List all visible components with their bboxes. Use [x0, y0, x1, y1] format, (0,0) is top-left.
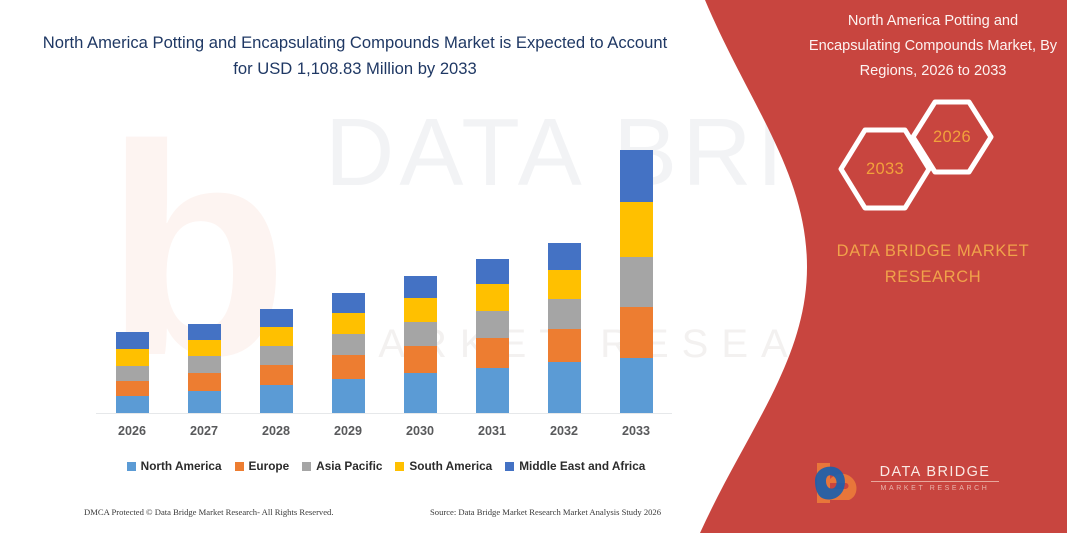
legend-item-north-america[interactable]: North America — [127, 459, 222, 473]
bar-segment[interactable] — [404, 276, 437, 298]
legend-swatch — [505, 462, 514, 471]
bar-slot — [312, 140, 384, 413]
bar-segment[interactable] — [188, 324, 221, 340]
bar-segment[interactable] — [476, 311, 509, 338]
x-axis-label-2029: 2029 — [312, 424, 384, 438]
stacked-bar[interactable] — [548, 243, 581, 413]
logo-divider — [871, 481, 999, 482]
stacked-bar-chart — [96, 140, 672, 414]
bar-segment[interactable] — [260, 327, 293, 346]
company-logo: DATA BRIDGE MARKET RESEARCH — [813, 459, 1013, 511]
legend-item-asia-pacific[interactable]: Asia Pacific — [302, 459, 382, 473]
bar-segment[interactable] — [620, 257, 653, 307]
bar-segment[interactable] — [548, 270, 581, 299]
x-axis-label-2027: 2027 — [168, 424, 240, 438]
hexagon-2026: 2026 — [909, 98, 995, 176]
stacked-bar[interactable] — [332, 293, 365, 413]
bar-segment[interactable] — [620, 202, 653, 257]
legend-swatch — [235, 462, 244, 471]
hexagon-group: 2033 2026 — [799, 98, 1067, 208]
x-axis-line — [96, 413, 672, 414]
bar-segment[interactable] — [116, 332, 149, 349]
bar-segment[interactable] — [116, 349, 149, 366]
logo-bridge-icon — [813, 459, 869, 509]
legend-item-middle-east-and-africa[interactable]: Middle East and Africa — [505, 459, 645, 473]
stacked-bar[interactable] — [404, 276, 437, 413]
bar-segment[interactable] — [548, 329, 581, 362]
legend-label: Europe — [249, 459, 290, 473]
bar-segment[interactable] — [404, 322, 437, 346]
bar-slot — [240, 140, 312, 413]
x-axis-label-2030: 2030 — [384, 424, 456, 438]
footer-copyright: DMCA Protected © Data Bridge Market Rese… — [84, 507, 334, 517]
stacked-bar[interactable] — [620, 150, 653, 413]
bar-segment[interactable] — [548, 243, 581, 270]
bar-segment[interactable] — [332, 379, 365, 413]
bar-segment[interactable] — [188, 373, 221, 391]
bar-segment[interactable] — [476, 284, 509, 311]
x-axis-label-2031: 2031 — [456, 424, 528, 438]
bar-segment[interactable] — [620, 307, 653, 358]
bar-segment[interactable] — [116, 366, 149, 381]
legend-swatch — [302, 462, 311, 471]
panel-title: North America Potting and Encapsulating … — [799, 9, 1067, 84]
x-axis-label-2028: 2028 — [240, 424, 312, 438]
logo-text: DATA BRIDGE MARKET RESEARCH — [871, 464, 999, 492]
bar-segment[interactable] — [260, 385, 293, 413]
bar-segment[interactable] — [332, 334, 365, 355]
bar-segment[interactable] — [404, 373, 437, 413]
bar-segment[interactable] — [332, 355, 365, 379]
bar-segment[interactable] — [332, 313, 365, 334]
legend-label: Middle East and Africa — [519, 459, 645, 473]
legend-swatch — [395, 462, 404, 471]
legend-label: South America — [409, 459, 492, 473]
brand-name: DATA BRIDGE MARKET RESEARCH — [799, 238, 1067, 290]
legend-item-south-america[interactable]: South America — [395, 459, 492, 473]
bar-segment[interactable] — [620, 358, 653, 413]
footer-source: Source: Data Bridge Market Research Mark… — [430, 507, 661, 517]
stacked-bar[interactable] — [476, 259, 509, 413]
bar-segment[interactable] — [548, 362, 581, 413]
stacked-bar[interactable] — [260, 309, 293, 413]
stacked-bar[interactable] — [116, 332, 149, 413]
bars-container — [96, 140, 672, 413]
bar-slot — [600, 140, 672, 413]
bar-segment[interactable] — [476, 259, 509, 284]
chart-legend: North AmericaEuropeAsia PacificSouth Ame… — [96, 459, 676, 473]
brand-name-line2: RESEARCH — [799, 264, 1067, 290]
legend-label: Asia Pacific — [316, 459, 382, 473]
brand-panel: North America Potting and Encapsulating … — [687, 0, 1067, 533]
bar-segment[interactable] — [476, 338, 509, 368]
bar-slot — [456, 140, 528, 413]
bar-segment[interactable] — [260, 346, 293, 365]
bar-segment[interactable] — [116, 396, 149, 413]
bar-segment[interactable] — [260, 309, 293, 327]
bar-segment[interactable] — [476, 368, 509, 413]
bar-slot — [96, 140, 168, 413]
legend-label: North America — [141, 459, 222, 473]
bar-slot — [528, 140, 600, 413]
stacked-bar[interactable] — [188, 324, 221, 413]
x-axis-labels: 20262027202820292030203120322033 — [96, 424, 672, 438]
chart-panel: North America Potting and Encapsulating … — [0, 0, 712, 533]
hexagon-2026-label: 2026 — [909, 98, 995, 176]
legend-item-europe[interactable]: Europe — [235, 459, 290, 473]
legend-swatch — [127, 462, 136, 471]
bar-segment[interactable] — [332, 293, 365, 313]
x-axis-label-2033: 2033 — [600, 424, 672, 438]
bar-segment[interactable] — [188, 340, 221, 356]
bar-segment[interactable] — [116, 381, 149, 396]
bar-segment[interactable] — [188, 391, 221, 413]
x-axis-label-2026: 2026 — [96, 424, 168, 438]
logo-main-text: DATA BRIDGE — [871, 464, 999, 480]
bar-segment[interactable] — [404, 346, 437, 373]
bar-slot — [168, 140, 240, 413]
brand-panel-content: North America Potting and Encapsulating … — [799, 0, 1067, 533]
bar-segment[interactable] — [260, 365, 293, 385]
bar-segment[interactable] — [188, 356, 221, 373]
brand-name-line1: DATA BRIDGE MARKET — [799, 238, 1067, 264]
bar-segment[interactable] — [548, 299, 581, 329]
bar-segment[interactable] — [404, 298, 437, 322]
logo-sub-text: MARKET RESEARCH — [871, 485, 999, 492]
bar-segment[interactable] — [620, 150, 653, 202]
x-axis-label-2032: 2032 — [528, 424, 600, 438]
bar-slot — [384, 140, 456, 413]
page-title: North America Potting and Encapsulating … — [40, 30, 670, 82]
